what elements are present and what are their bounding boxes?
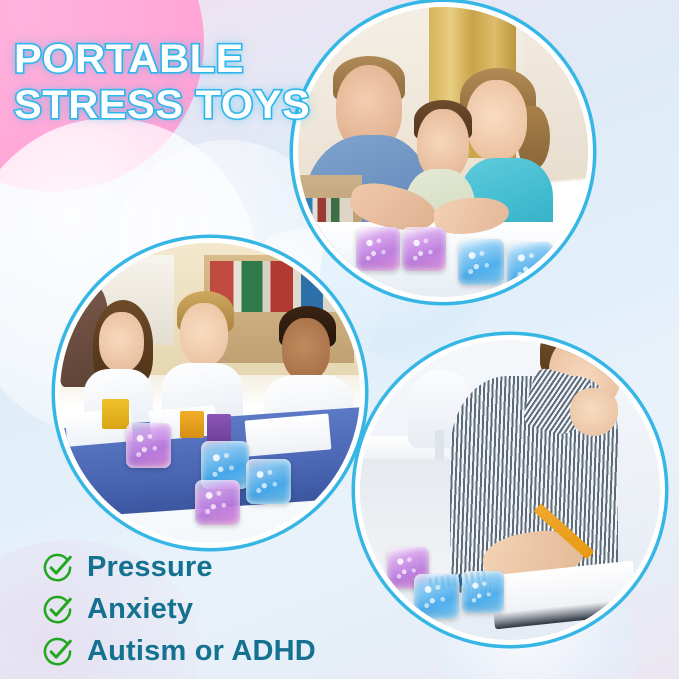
pencil-pot-yellow (102, 399, 129, 429)
sensory-cube-blue (246, 459, 291, 504)
sensory-cube-purple (126, 423, 171, 468)
sensory-cube-purple (356, 227, 400, 271)
pencil-pot-purple (207, 414, 231, 444)
photo-woman-writing (355, 335, 665, 645)
worksheet-c (245, 413, 332, 456)
green-check-circle-icon (42, 636, 73, 667)
page-title: PORTABLE STRESS TOYS (14, 36, 344, 128)
sensory-cube-purple (195, 480, 240, 525)
sensory-cube-blue (458, 239, 504, 285)
sensory-cube-blue (462, 571, 504, 613)
benefits-list: Pressure Anxiety Autism or ADHD (42, 548, 316, 674)
headline-line-2: STRESS TOYS (14, 82, 357, 128)
product-marketing-poster: PORTABLE STRESS TOYS (0, 0, 679, 679)
woman-hand-on-chin (570, 388, 618, 436)
benefit-label: Anxiety (87, 595, 193, 624)
sensory-cube-purple (402, 227, 446, 271)
sensory-cube-blue (507, 242, 553, 288)
green-check-circle-icon (42, 552, 73, 583)
sensory-cube-blue (414, 574, 459, 619)
desk-study-scene (360, 340, 660, 640)
girl-head (466, 80, 527, 161)
desk-lamp-stem (435, 430, 444, 460)
pencil-pot-orange (180, 411, 204, 438)
benefit-label: Pressure (87, 553, 213, 582)
benefit-item: Anxiety (42, 590, 316, 628)
green-check-circle-icon (42, 594, 73, 625)
benefit-item: Autism or ADHD (42, 632, 316, 670)
student-c-head (282, 318, 330, 381)
headline-line-1: PORTABLE (14, 36, 357, 82)
student-a-head (99, 312, 144, 372)
student-b-head (180, 303, 228, 366)
benefit-item: Pressure (42, 548, 316, 586)
benefit-label: Autism or ADHD (87, 637, 316, 666)
